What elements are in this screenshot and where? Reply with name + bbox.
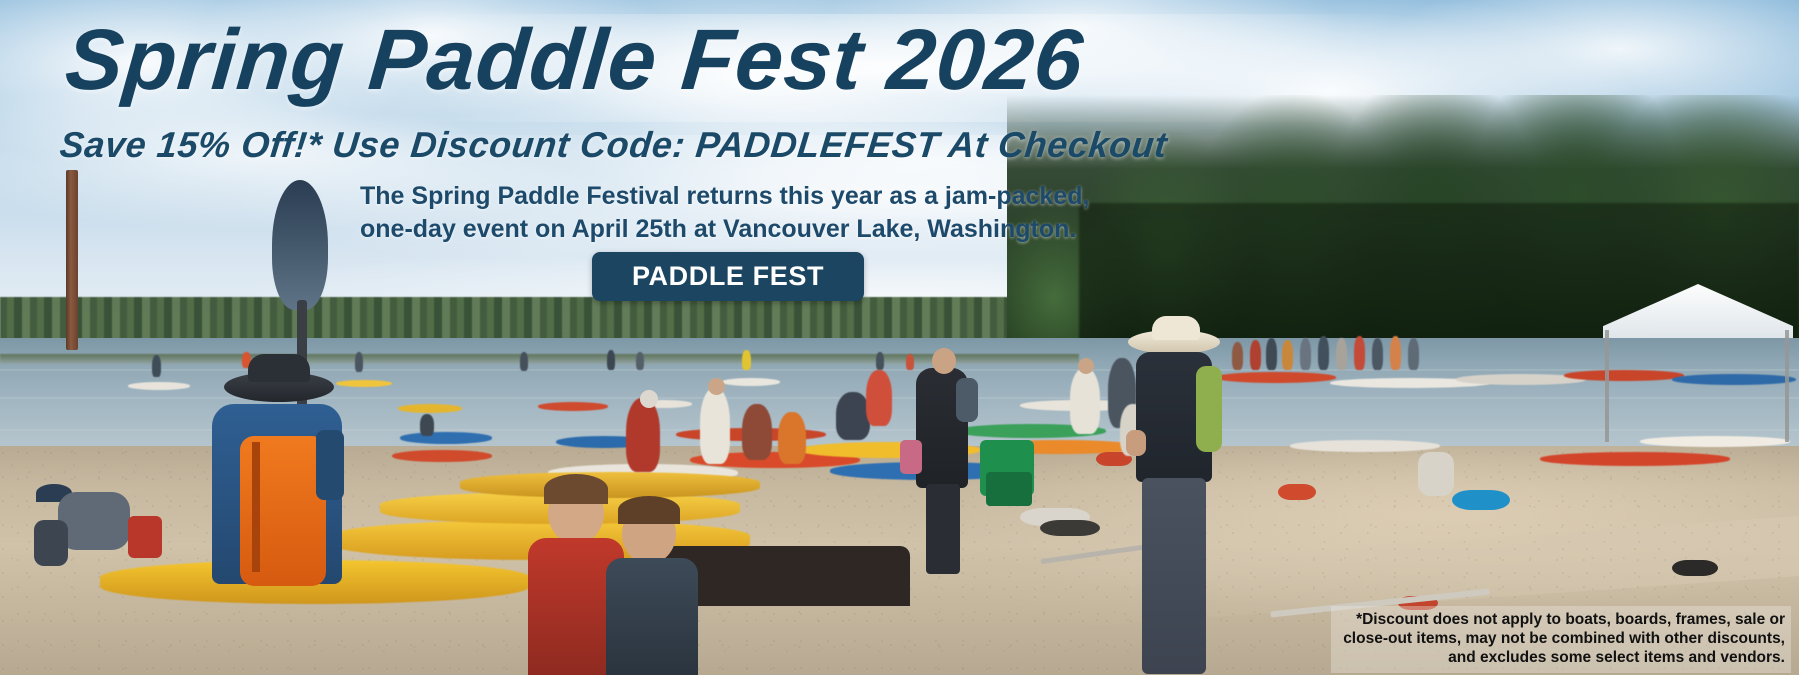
event-description: The Spring Paddle Festival returns this … (360, 180, 1180, 246)
promotional-banner: Spring Paddle Fest 2026 Save 15% Off!* U… (0, 0, 1799, 675)
event-description-line-1: The Spring Paddle Festival returns this … (360, 180, 1180, 213)
discount-subheading: Save 15% Off!* Use Discount Code: PADDLE… (58, 122, 1170, 168)
banner-content: Spring Paddle Fest 2026 Save 15% Off!* U… (0, 0, 1799, 675)
event-description-line-2: one-day event on April 25th at Vancouver… (360, 213, 1180, 246)
discount-disclaimer: *Discount does not apply to boats, board… (1331, 606, 1791, 673)
paddle-fest-button[interactable]: PADDLE FEST (592, 252, 864, 301)
page-title: Spring Paddle Fest 2026 (62, 12, 1190, 108)
